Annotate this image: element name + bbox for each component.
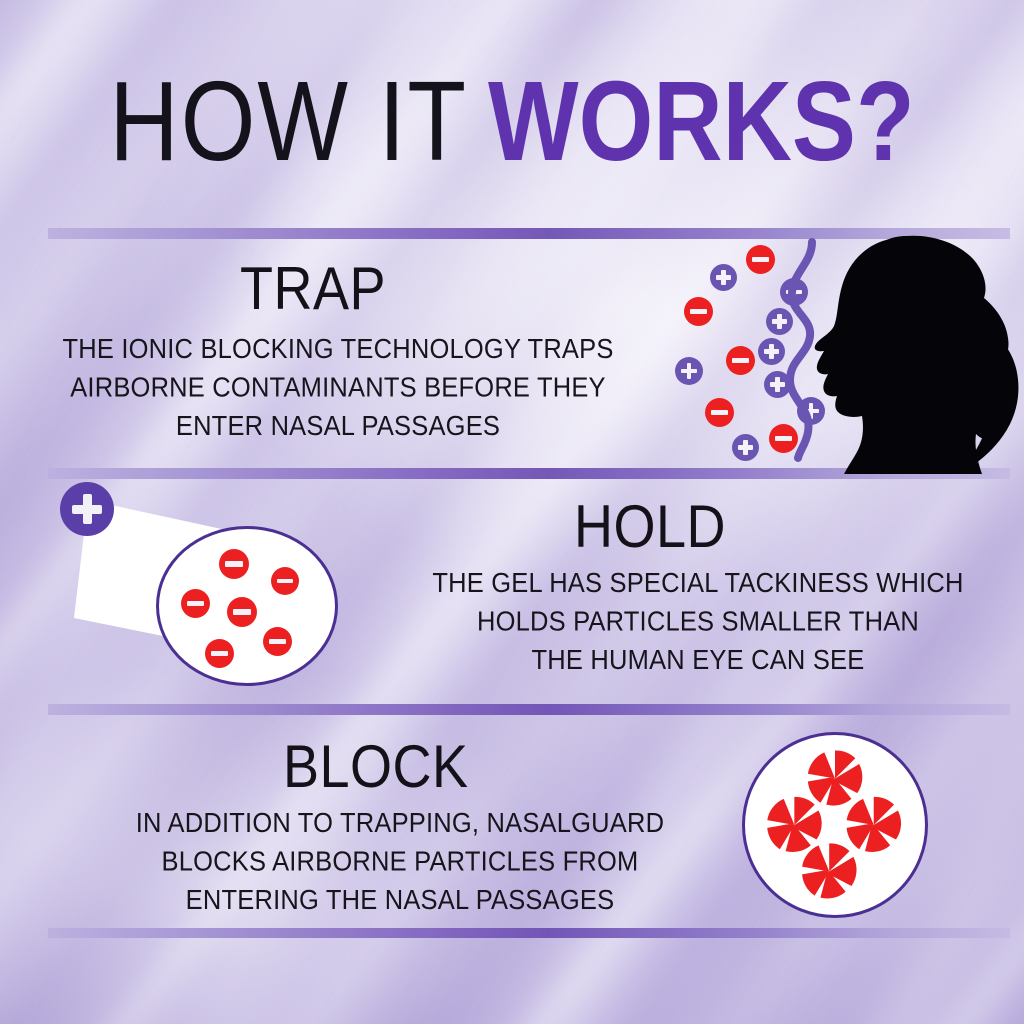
divider-bottom <box>48 928 1010 938</box>
block-illustration <box>742 732 928 918</box>
magnified-lens <box>156 526 338 686</box>
hold-body-line-2: HOLDS PARTICLES SMALLER THAN <box>388 603 1008 642</box>
positive-ion-icon <box>675 357 703 385</box>
section-heading-trap: TRAP <box>240 259 386 319</box>
block-body-line-3: ENTERING THE NASAL PASSAGES <box>80 882 720 921</box>
negative-ion-icon <box>271 567 299 595</box>
female-head-silhouette-icon <box>792 234 1024 474</box>
negative-ion-icon <box>227 597 257 627</box>
divider-hold-block <box>48 704 1010 715</box>
section-heading-hold: HOLD <box>574 497 726 557</box>
block-body-line-1: IN ADDITION TO TRAPPING, NASALGUARD <box>80 805 720 844</box>
broken-particle-top <box>808 750 862 805</box>
broken-particle-bottom <box>802 843 856 898</box>
how-it-works-infographic: HOW ITWORKS? TRAP THE IONIC BLOCKING TEC… <box>0 0 1024 1024</box>
section-body-block: IN ADDITION TO TRAPPING, NASALGUARD BLOC… <box>80 805 720 921</box>
hold-body-line-3: THE HUMAN EYE CAN SEE <box>388 642 1008 681</box>
negative-ion-icon <box>205 639 234 668</box>
negative-ion-icon <box>705 398 734 427</box>
section-body-hold: THE GEL HAS SPECIAL TACKINESS WHICH HOLD… <box>388 565 1008 681</box>
trap-body-line-1: THE IONIC BLOCKING TECHNOLOGY TRAPS <box>18 331 658 370</box>
section-body-trap: THE IONIC BLOCKING TECHNOLOGY TRAPS AIRB… <box>18 331 658 447</box>
block-lens <box>742 732 928 918</box>
positive-ion-badge-icon <box>60 482 114 536</box>
hold-body-line-1: THE GEL HAS SPECIAL TACKINESS WHICH <box>388 565 1008 604</box>
broken-particle-group <box>745 735 925 915</box>
page-title-thin-part: HOW IT <box>109 65 468 178</box>
positive-ion-icon <box>766 308 793 335</box>
positive-ion-icon <box>710 264 737 291</box>
positive-ion-icon <box>764 371 791 398</box>
negative-ion-icon <box>746 245 775 274</box>
negative-ion-icon <box>684 297 713 326</box>
positive-ion-icon <box>732 434 759 461</box>
negative-ion-icon <box>181 589 210 618</box>
negative-ion-icon <box>726 346 755 375</box>
page-title: HOW ITWORKS? <box>0 74 1024 170</box>
page-title-bold-part: WORKS? <box>488 65 915 178</box>
trap-illustration <box>672 240 1024 472</box>
trap-body-line-3: ENTER NASAL PASSAGES <box>18 408 658 447</box>
negative-ion-icon <box>263 627 292 656</box>
trap-body-line-2: AIRBORNE CONTAMINANTS BEFORE THEY <box>18 369 658 408</box>
negative-ion-icon <box>219 549 249 579</box>
section-heading-block: BLOCK <box>283 737 469 797</box>
broken-particle-right <box>847 797 901 852</box>
block-body-line-2: BLOCKS AIRBORNE PARTICLES FROM <box>80 843 720 882</box>
hold-illustration <box>44 478 354 700</box>
positive-ion-icon <box>758 338 785 365</box>
broken-particle-left <box>767 797 821 852</box>
